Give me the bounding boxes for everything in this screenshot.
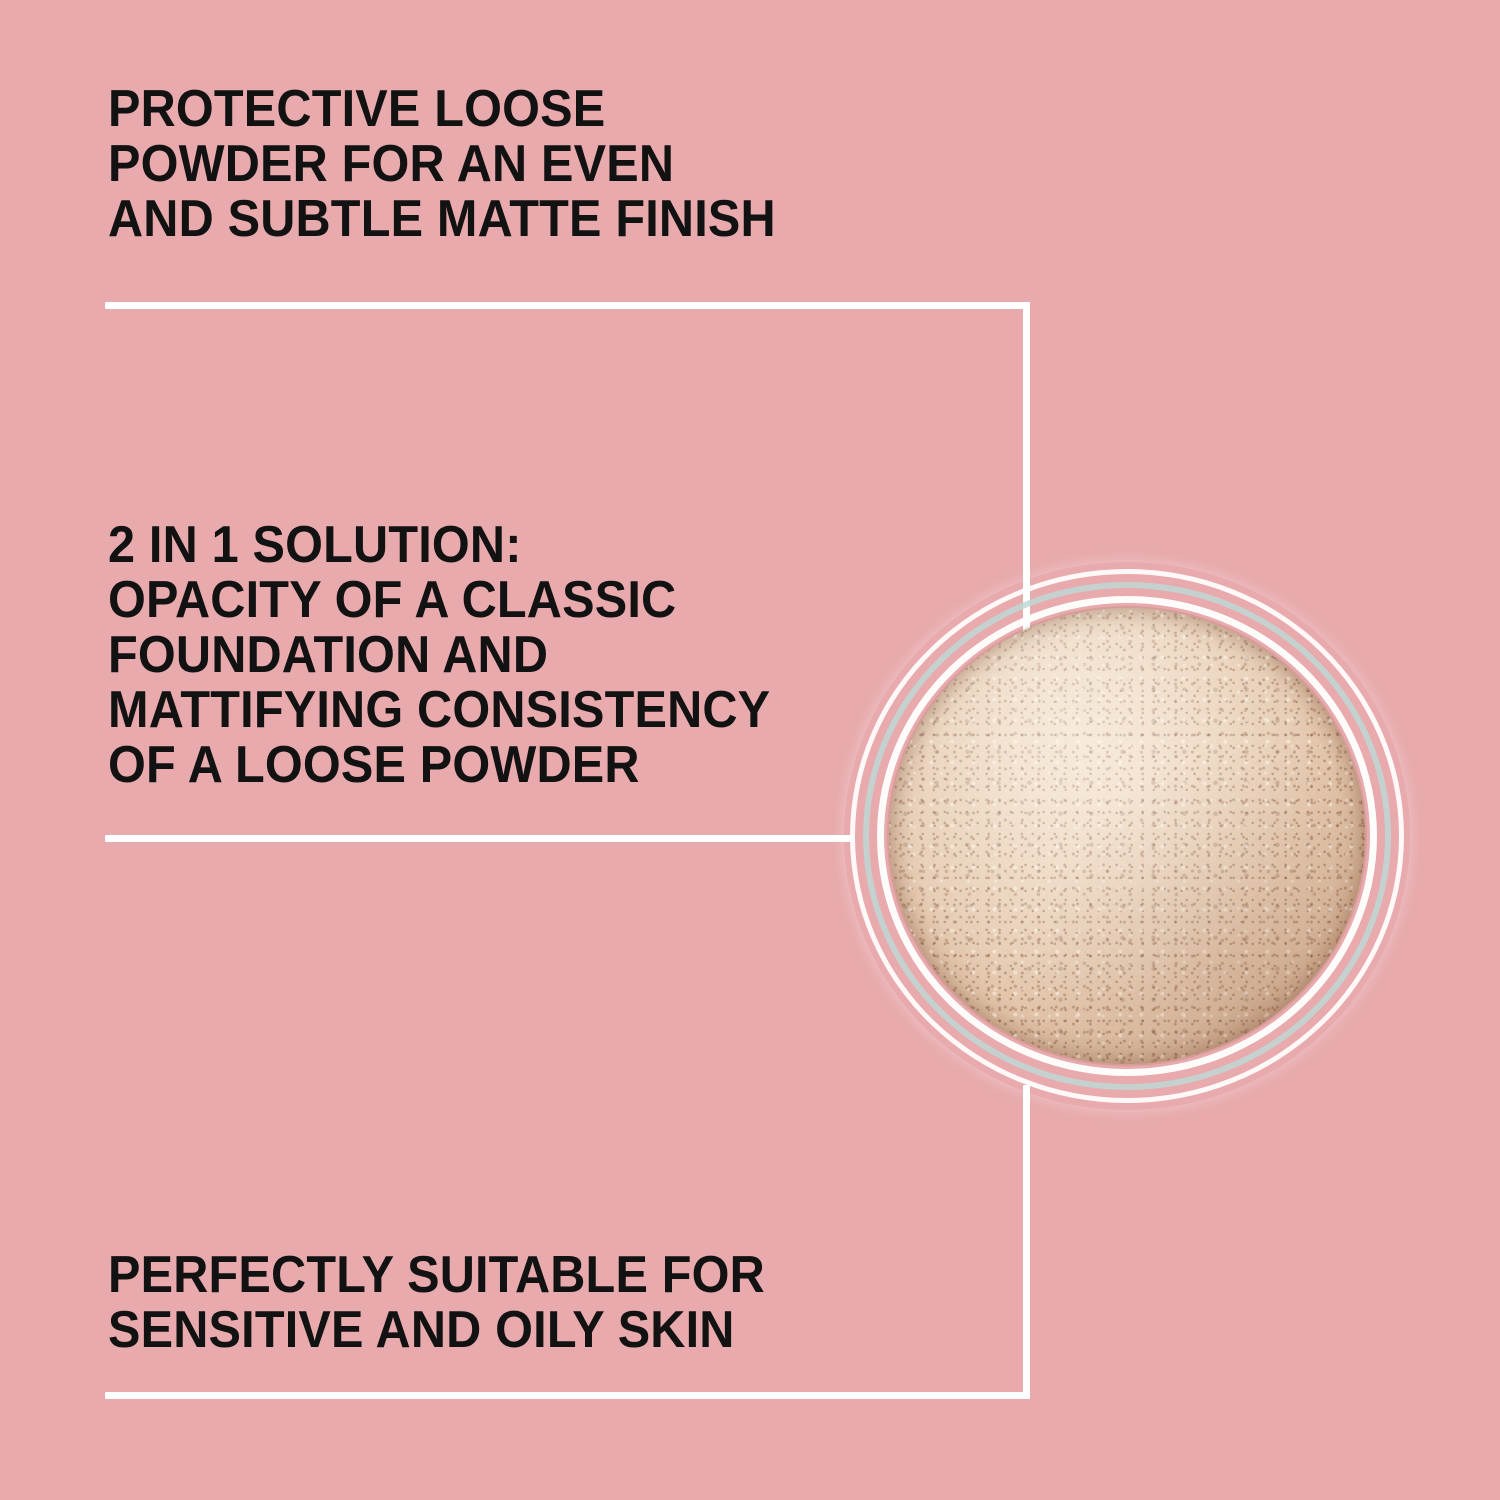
headline-protective-loose-powder: PROTECTIVE LOOSE POWDER FOR AN EVEN AND … [108,82,776,247]
headline-suitable-for-sensitive-oily-skin: PERFECTLY SUITABLE FOR SENSITIVE AND OIL… [108,1248,765,1358]
divider-rule-top [105,302,1030,309]
loose-powder-fill [889,608,1365,1064]
product-feature-panel: PROTECTIVE LOOSE POWDER FOR AN EVEN AND … [0,0,1500,1500]
headline-two-in-one-solution: 2 IN 1 SOLUTION: OPACITY OF A CLASSIC FO… [108,518,770,793]
divider-rule-bottom [105,1392,1030,1399]
divider-rule-vertical-lower [1023,1085,1030,1399]
divider-rule-middle [105,835,853,842]
loose-powder-jar-image [844,562,1410,1110]
